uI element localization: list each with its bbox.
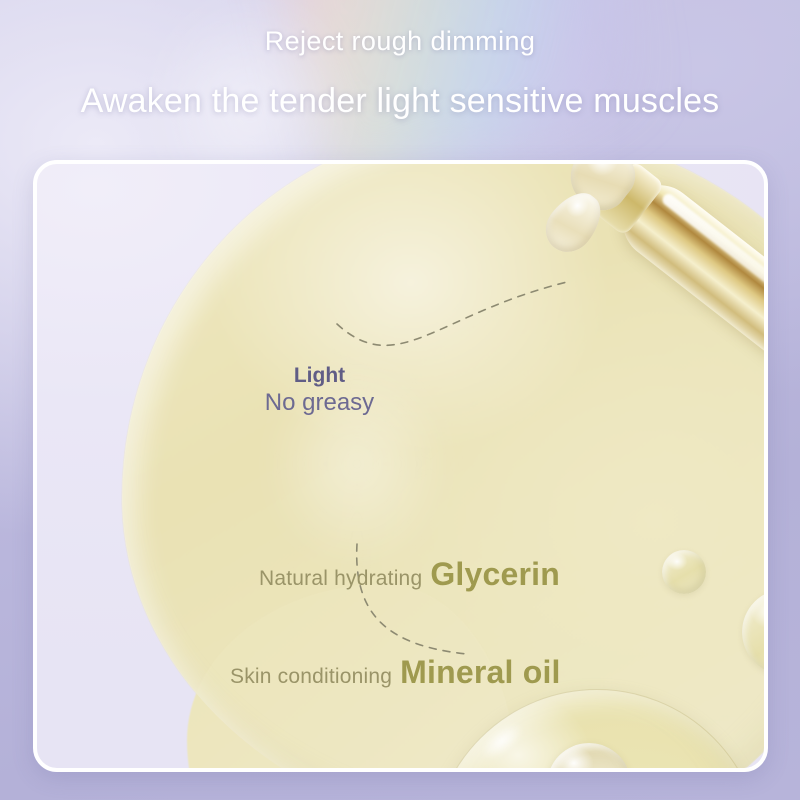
ingredient-mineral-oil: Skin conditioningMineral oil (230, 654, 561, 691)
ingredient-glycerin-name: Glycerin (430, 556, 560, 592)
banner-subtitle: Reject rough dimming (0, 26, 800, 57)
benefit-light-heading: Light (212, 364, 427, 389)
ingredient-mineral-oil-function: Skin conditioning (230, 665, 392, 688)
serum-droplet-small (662, 550, 706, 594)
molecule-atom (547, 743, 631, 768)
banner-title: Awaken the tender light sensitive muscle… (0, 82, 800, 121)
molecule-structure (492, 729, 764, 768)
feature-card: Light No greasy Embellish Deep moistenin… (33, 160, 768, 772)
benefit-light-description: No greasy (212, 389, 427, 417)
ingredient-glycerin: Natural hydratingGlycerin (259, 556, 560, 593)
product-feature-banner: Reject rough dimming Awaken the tender l… (0, 0, 800, 800)
benefit-light: Light No greasy (212, 364, 427, 417)
feature-card-inner: Light No greasy Embellish Deep moistenin… (37, 164, 764, 768)
ingredient-glycerin-function: Natural hydrating (259, 567, 422, 590)
ingredient-mineral-oil-name: Mineral oil (400, 654, 560, 690)
